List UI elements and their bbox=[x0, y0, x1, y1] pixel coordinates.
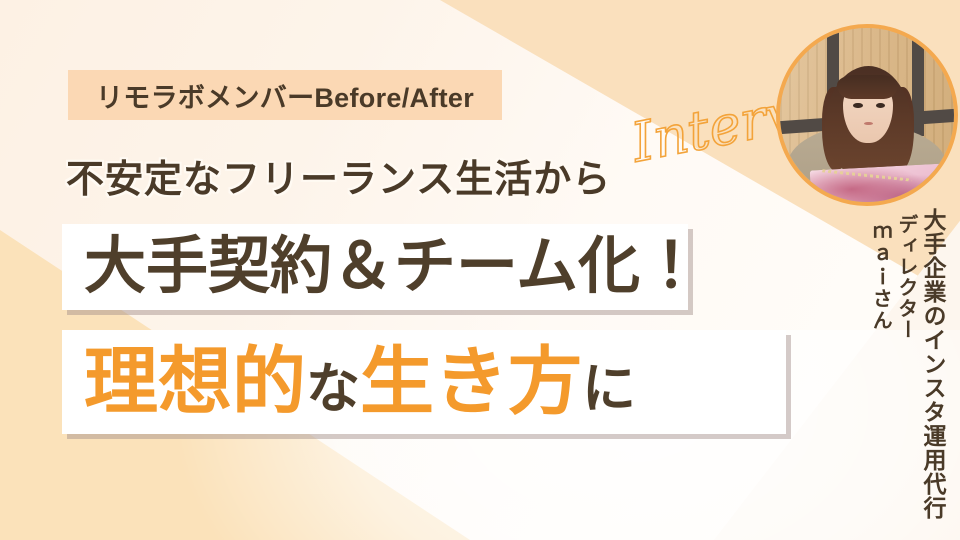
headline-box-primary-text: 大手契約＆チーム化！ bbox=[84, 236, 702, 298]
thumbnail-canvas: リモラボメンバーBefore/After 不安定なフリーランス生活から 大手契約… bbox=[0, 0, 960, 540]
photo-eye-left bbox=[853, 103, 863, 108]
headline-segment-1: な bbox=[306, 359, 360, 419]
guest-portrait bbox=[776, 24, 958, 206]
portrait-photo bbox=[780, 28, 954, 202]
headline-segment-3: に bbox=[582, 359, 636, 419]
headline-lead: 不安定なフリーランス生活から bbox=[66, 148, 611, 203]
headline-box-primary: 大手契約＆チーム化！ bbox=[62, 224, 688, 310]
category-tag: リモラボメンバーBefore/After bbox=[68, 70, 502, 120]
guest-caption: ｍａｉさん ディレクター 大手企業のインスタ運用代行 bbox=[868, 208, 946, 520]
guest-role: 大手企業のインスタ運用代行 bbox=[919, 208, 946, 520]
guest-title: ディレクター bbox=[893, 208, 917, 340]
headline-box-secondary: 理想的な生き方に bbox=[62, 330, 786, 434]
headline-box-secondary-text: 理想的な生き方に bbox=[84, 345, 636, 419]
guest-name: ｍａｉさん bbox=[868, 208, 892, 332]
headline-segment-0: 理想的 bbox=[84, 340, 306, 423]
category-tag-label: リモラボメンバーBefore/After bbox=[96, 76, 474, 115]
headline-segment-2: 生き方 bbox=[360, 340, 582, 423]
photo-fringe bbox=[837, 75, 898, 99]
